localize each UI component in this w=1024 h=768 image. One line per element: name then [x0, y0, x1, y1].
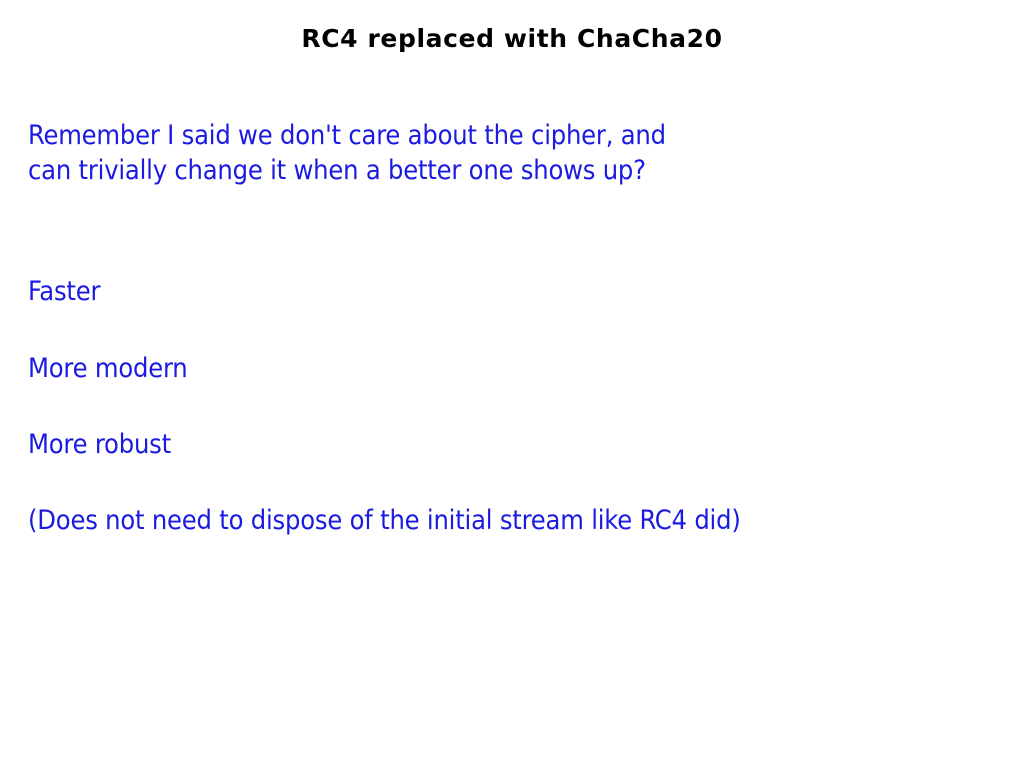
intro-paragraph-line-1: Remember I said we don't care about the … [28, 118, 666, 153]
intro-paragraph: Remember I said we don't care about the … [28, 118, 666, 188]
benefit-item-more-modern: More modern [28, 351, 187, 386]
page-title: RC4 replaced with ChaCha20 [0, 25, 1024, 53]
benefit-item-more-robust: More robust [28, 427, 171, 462]
benefit-item-faster: Faster [28, 274, 100, 309]
benefit-item-note: (Does not need to dispose of the initial… [28, 503, 741, 538]
intro-paragraph-line-2: can trivially change it when a better on… [28, 153, 666, 188]
slide-canvas: RC4 replaced with ChaCha20 Remember I sa… [0, 0, 1024, 768]
